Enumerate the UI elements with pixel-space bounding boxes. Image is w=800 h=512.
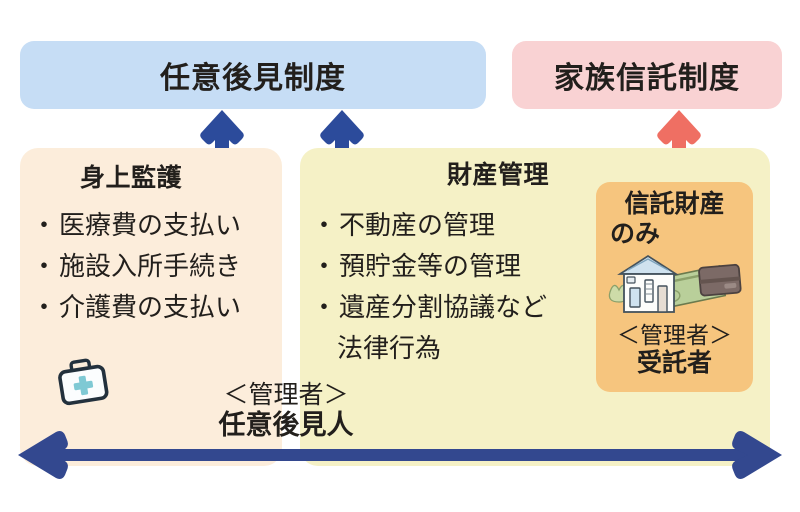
header-box-voluntary-guardianship: 任意後見制度 — [20, 41, 486, 109]
trust-assets-heading-line1: 信託財産 — [624, 190, 724, 218]
list-item-label: 不動産の管理 — [339, 210, 495, 240]
bullet-dot: ・ — [31, 251, 57, 281]
panel-title-personal-care: 身上監護 — [80, 158, 182, 194]
list-item: ・遺産分割協議など — [311, 287, 547, 328]
list-item-label: 介護費の支払い — [59, 292, 241, 322]
bullet-dot: ・ — [31, 210, 57, 240]
trust-assets-role: ＜管理者＞ 受託者 — [596, 322, 753, 379]
guardian-role-bracket: ＜管理者＞ — [186, 381, 386, 410]
bullet-list-asset-management: ・不動産の管理 ・預貯金等の管理 ・遺産分割協議など 法律行為 — [311, 205, 547, 369]
list-item-label: 預貯金等の管理 — [339, 251, 521, 281]
diagram-canvas: 任意後見制度 家族信託制度 身上監護 ・医療費の支払い ・施設入所手続き ・介護… — [0, 0, 800, 512]
list-item-continuation: 法律行為 — [311, 328, 547, 369]
scope-double-arrow-icon — [10, 424, 790, 486]
bullet-dot: ・ — [311, 251, 337, 281]
header-label-voluntary-guardianship: 任意後見制度 — [160, 53, 346, 97]
list-item: ・施設入所手続き — [31, 246, 241, 287]
list-item: ・不動産の管理 — [311, 205, 547, 246]
list-item: ・預貯金等の管理 — [311, 246, 547, 287]
list-item: ・介護費の支払い — [31, 287, 241, 328]
bullet-dot: ・ — [311, 210, 337, 240]
list-item-label: 法律行為 — [337, 333, 441, 363]
bullet-list-personal-care: ・医療費の支払い ・施設入所手続き ・介護費の支払い — [31, 205, 241, 328]
list-item-label: 施設入所手続き — [59, 251, 241, 281]
medical-kit-icon — [52, 352, 114, 414]
bullet-dot: ・ — [311, 292, 337, 322]
house-money-wallet-illustration — [604, 248, 746, 318]
trust-role-name: 受託者 — [596, 349, 753, 379]
list-item: ・医療費の支払い — [31, 205, 241, 246]
header-box-family-trust: 家族信託制度 — [512, 41, 782, 109]
list-item-label: 遺産分割協議など — [339, 292, 547, 322]
panel-title-asset-management: 財産管理 — [447, 155, 549, 191]
trust-role-bracket: ＜管理者＞ — [596, 322, 753, 349]
bullet-dot: ・ — [31, 292, 57, 322]
trust-assets-heading-line2: のみ — [596, 220, 753, 250]
header-label-family-trust: 家族信託制度 — [554, 53, 740, 97]
list-item-label: 医療費の支払い — [59, 210, 241, 240]
trust-assets-heading: 信託財産 のみ — [596, 190, 753, 249]
